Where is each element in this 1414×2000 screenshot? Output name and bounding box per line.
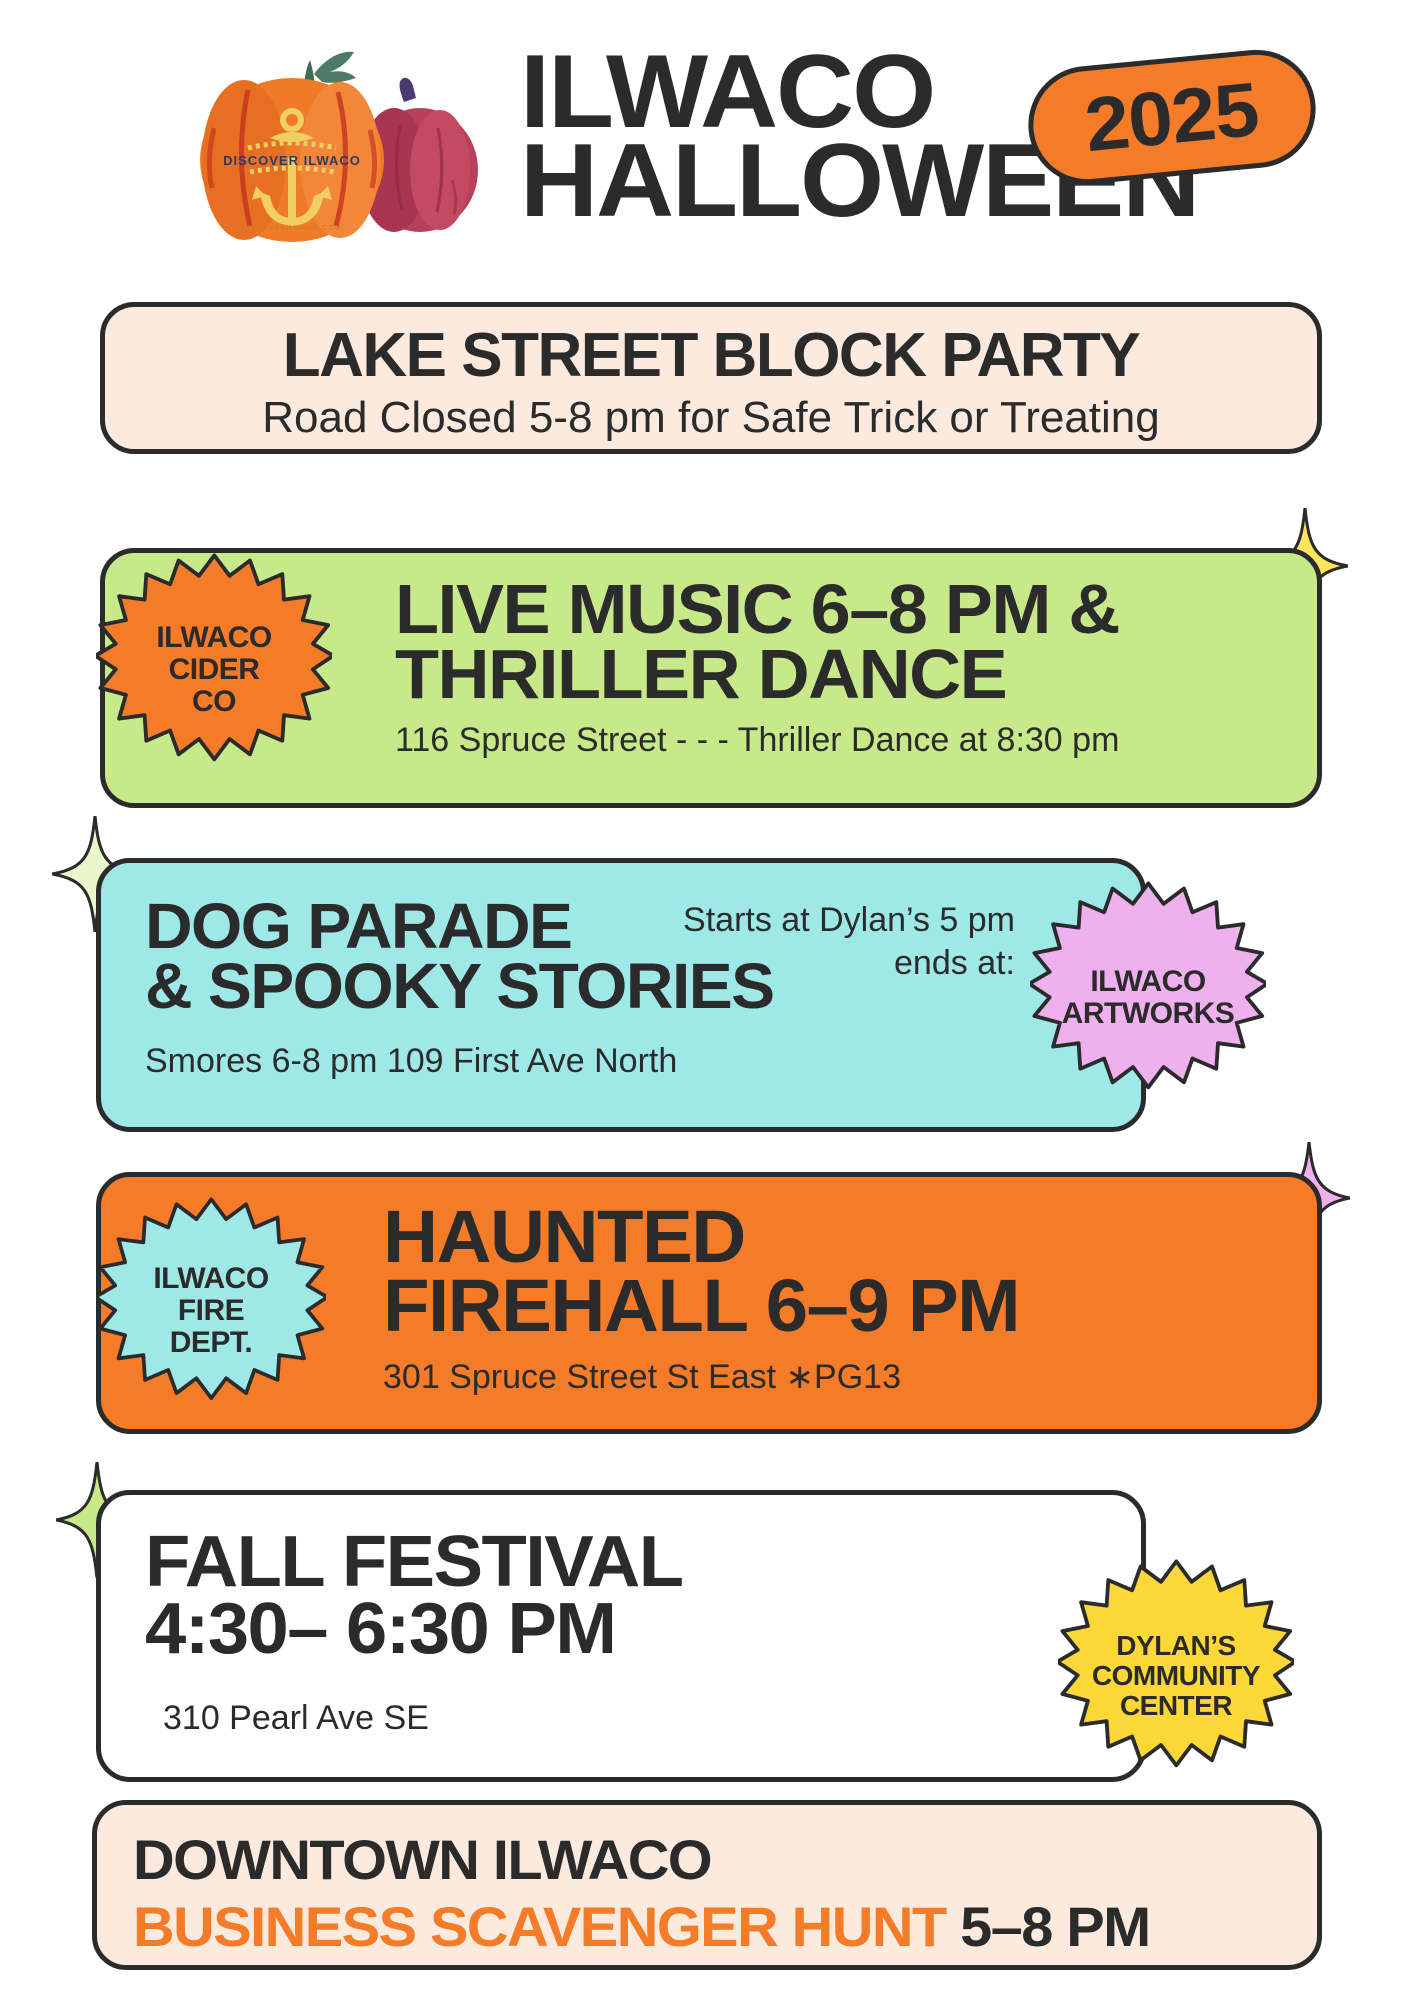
event-title-block-party: LAKE STREET BLOCK PARTY [105,327,1317,385]
year-badge-label: 2025 [1082,65,1263,168]
event-card-block-party: LAKE STREET BLOCK PARTY Road Closed 5-8 … [100,302,1322,454]
badge-dylans-line2: COMMUNITY [1092,1661,1260,1691]
badge-artworks-line1: ILWACO [1062,966,1235,998]
badge-cider-line2: CIDER [156,654,271,686]
event-title-scavenger-line2: BUSINESS SCAVENGER HUNT 5–8 PM [133,1894,1353,1959]
event-title-live-music-line2: THRILLER DANCE [395,642,1345,707]
badge-cider-line3: CO [156,686,271,718]
event-title-dog-parade-line1: DOG PARADE [145,897,1171,957]
event-subtitle-dog-parade: Smores 6-8 pm 109 First Ave North [145,1042,1141,1081]
badge-cider-line1: ILWACO [156,622,271,654]
event-title-scavenger-time: 5–8 PM [960,1895,1150,1958]
poster-root: DISCOVER ILWACO DISCOVERILWACO.COM ILWAC… [0,0,1414,2000]
logo-url-text: DISCOVERILWACO.COM [242,225,342,232]
badge-artworks-line2: ARTWORKS [1062,998,1235,1030]
event-note-dog-parade: Starts at Dylan’s 5 pm ends at: [683,899,1015,984]
event-subtitle-live-music: 116 Spruce Street - - - Thriller Dance a… [395,721,1317,760]
pumpkin-illustration: DISCOVER ILWACO DISCOVERILWACO.COM [152,30,492,250]
badge-dylans-community-center-label: DYLAN’S COMMUNITY CENTER [1092,1631,1260,1720]
event-title-scavenger-highlight: BUSINESS SCAVENGER HUNT [133,1895,946,1958]
event-card-scavenger-hunt: DOWNTOWN ILWACO BUSINESS SCAVENGER HUNT … [92,1800,1322,1970]
event-title-fall-festival-line2: 4:30– 6:30 PM [145,1596,1171,1663]
event-title-live-music-line1: LIVE MUSIC 6–8 PM & [395,577,1345,642]
event-card-fall-festival: FALL FESTIVAL 4:30– 6:30 PM 310 Pearl Av… [96,1490,1146,1782]
event-card-dog-parade: DOG PARADE & SPOOKY STORIES Smores 6-8 p… [96,858,1146,1132]
event-note-dog-parade-line1: Starts at Dylan’s 5 pm [683,899,1015,942]
badge-firedept-line1: ILWACO [153,1263,268,1295]
badge-ilwaco-fire-dept-label: ILWACO FIRE DEPT. [153,1263,268,1358]
event-title-firehall-line1: HAUNTED [383,1203,1345,1272]
badge-dylans-community-center: DYLAN’S COMMUNITY CENTER [1058,1558,1294,1794]
badge-ilwaco-artworks-label: ILWACO ARTWORKS [1062,966,1235,1030]
badge-firedept-line3: DEPT. [153,1327,268,1359]
badge-ilwaco-cider-co: ILWACO CIDER CO [96,552,332,788]
event-title-firehall-line2: FIREHALL 6–9 PM [383,1272,1345,1341]
event-title-dog-parade-line2: & SPOOKY STORIES [145,957,1171,1017]
event-title-fall-festival-line1: FALL FESTIVAL [145,1529,1171,1596]
poster-header: DISCOVER ILWACO DISCOVERILWACO.COM ILWAC… [0,0,1414,300]
badge-ilwaco-artworks: ILWACO ARTWORKS [1030,880,1266,1116]
event-subtitle-block-party: Road Closed 5-8 pm for Safe Trick or Tre… [105,393,1317,443]
event-title-scavenger-line1: DOWNTOWN ILWACO [133,1827,1353,1892]
event-note-dog-parade-line2: ends at: [683,942,1015,985]
badge-ilwaco-fire-dept: ILWACO FIRE DEPT. [96,1196,326,1426]
badge-dylans-line1: DYLAN’S [1092,1631,1260,1661]
event-subtitle-firehall: 301 Spruce Street St East ∗PG13 [383,1357,1317,1397]
event-subtitle-fall-festival: 310 Pearl Ave SE [163,1699,1141,1738]
badge-ilwaco-cider-co-label: ILWACO CIDER CO [156,622,271,717]
badge-firedept-line2: FIRE [153,1295,268,1327]
badge-dylans-line3: CENTER [1092,1691,1260,1721]
logo-brand-text: DISCOVER ILWACO [223,153,361,168]
